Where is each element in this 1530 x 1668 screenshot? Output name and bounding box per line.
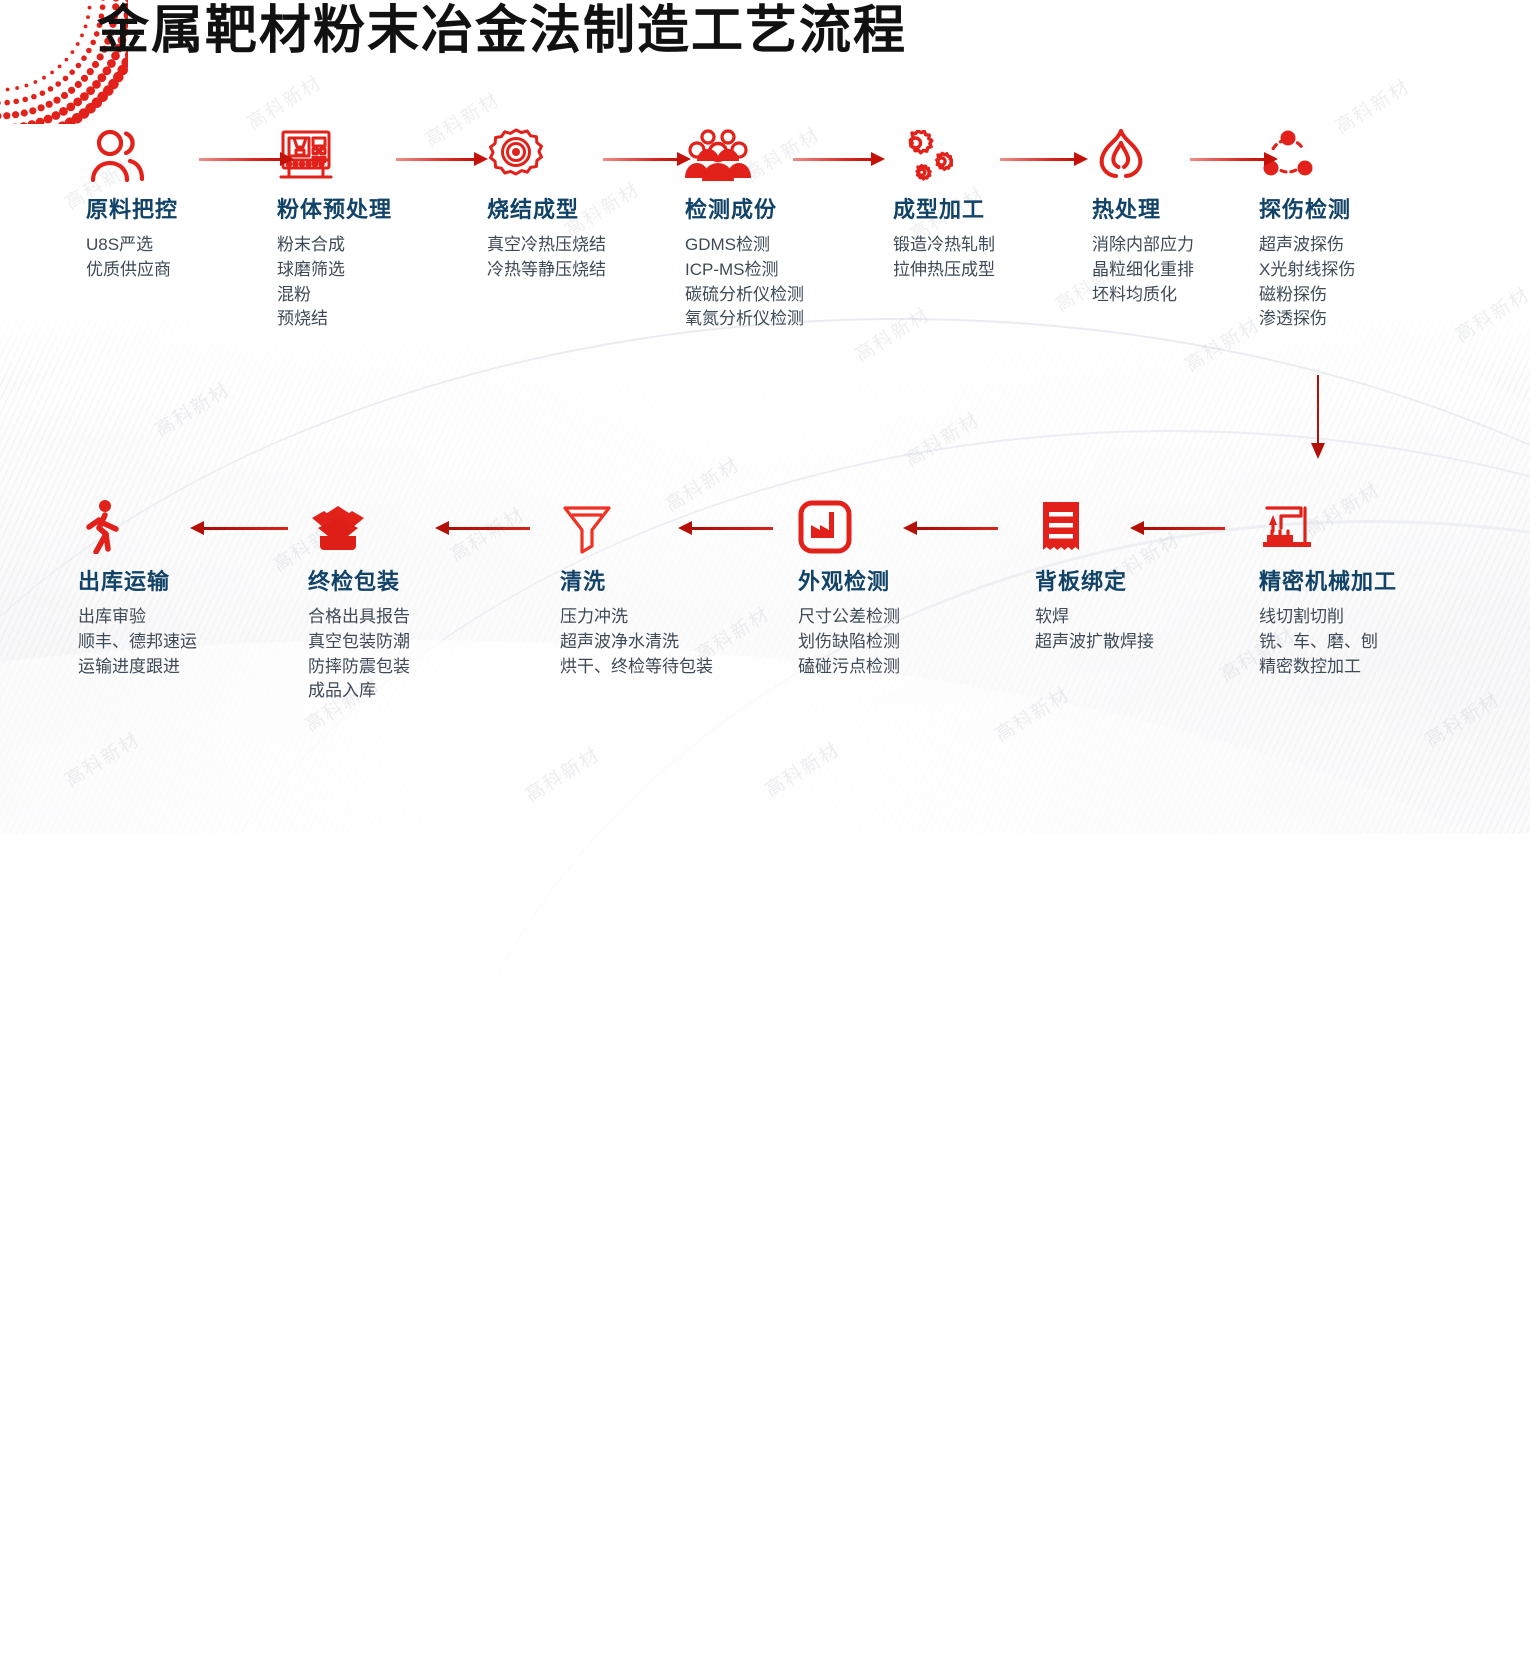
step-title: 终检包装: [308, 564, 518, 596]
step-detail-item: 超声波扩散焊接: [1035, 630, 1245, 655]
step-title: 背板绑定: [1035, 564, 1245, 596]
arrow-shaft: [203, 527, 288, 530]
step-detail-item: 超声波净水清洗: [560, 630, 770, 655]
arrow-head: [678, 521, 692, 535]
step-title: 探伤检测: [1259, 192, 1469, 224]
arrow-shaft: [448, 527, 530, 530]
step-detail-item: U8S严选: [86, 233, 296, 258]
step-detail-item: 混粉: [277, 283, 487, 308]
arrow-left-5: [1130, 521, 1225, 535]
step-detail-item: 合格出具报告: [308, 605, 518, 630]
step-title: 精密机械加工: [1259, 564, 1469, 596]
step-detail-item: 磕碰污点检测: [798, 655, 1008, 680]
step-detail-item: 精密数控加工: [1259, 655, 1469, 680]
step-detail-list: 线切割切削铣、车、磨、刨精密数控加工: [1259, 605, 1469, 679]
process-step-top-7: 探伤检测超声波探伤X光射线探伤磁粉探伤渗透探伤: [1259, 126, 1469, 332]
step-detail-item: 拉伸热压成型: [893, 258, 1103, 283]
arrow-shaft: [1143, 527, 1225, 530]
step-title: 成型加工: [893, 192, 1103, 224]
process-step-bottom-6: 精密机械加工线切割切削铣、车、磨、刨精密数控加工: [1259, 498, 1469, 679]
step-detail-item: 出库审验: [78, 605, 288, 630]
step-detail-item: 球磨筛选: [277, 258, 487, 283]
arrow-head: [871, 152, 885, 166]
arrow-shaft: [916, 527, 998, 530]
step-detail-item: 真空包装防潮: [308, 630, 518, 655]
step-detail-item: 顺丰、德邦速运: [78, 630, 288, 655]
step-detail-item: 氧氮分析仪检测: [685, 307, 895, 332]
step-detail-list: U8S严选优质供应商: [86, 233, 296, 283]
arrow-right-5: [1000, 152, 1088, 166]
step-title: 检测成份: [685, 192, 895, 224]
step-title: 粉体预处理: [277, 192, 487, 224]
step-detail-item: 超声波探伤: [1259, 233, 1469, 258]
step-detail-item: 渗透探伤: [1259, 307, 1469, 332]
step-detail-item: 铣、车、磨、刨: [1259, 630, 1469, 655]
arrow-shaft: [1317, 375, 1319, 445]
precision-machine-icon: [1259, 498, 1469, 554]
arrow-left-3: [678, 521, 773, 535]
three-nodes-icon: [1259, 126, 1469, 182]
arrow-right-1: [199, 152, 294, 166]
arrow-head: [1264, 152, 1278, 166]
arrow-head: [1130, 521, 1144, 535]
step-title: 原料把控: [86, 192, 296, 224]
step-title: 外观检测: [798, 564, 1008, 596]
step-detail-item: GDMS检测: [685, 233, 895, 258]
step-detail-item: X光射线探伤: [1259, 258, 1469, 283]
step-title: 出库运输: [78, 564, 288, 596]
arrow-shaft: [199, 158, 281, 161]
arrow-shaft: [396, 158, 475, 161]
arrow-head: [903, 521, 917, 535]
step-detail-list: 锻造冷热轧制拉伸热压成型: [893, 233, 1103, 283]
step-detail-item: 压力冲洗: [560, 605, 770, 630]
step-detail-list: 软焊超声波扩散焊接: [1035, 605, 1245, 655]
arrow-right-3: [603, 152, 691, 166]
arrow-head: [677, 152, 691, 166]
step-detail-item: 成品入库: [308, 679, 518, 704]
arrow-head: [190, 521, 204, 535]
step-detail-item: 运输进度跟进: [78, 655, 288, 680]
arrow-right-6: [1190, 152, 1278, 166]
step-detail-item: 预烧结: [277, 307, 487, 332]
process-step-top-1: 原料把控U8S严选优质供应商: [86, 126, 296, 283]
step-detail-item: 防摔防震包装: [308, 655, 518, 680]
step-detail-list: GDMS检测ICP-MS检测碳硫分析仪检测氧氮分析仪检测: [685, 233, 895, 332]
arrow-head: [435, 521, 449, 535]
arrow-left-2: [435, 521, 530, 535]
step-detail-item: 优质供应商: [86, 258, 296, 283]
step-detail-item: 真空冷热压烧结: [487, 233, 697, 258]
arrow-shaft: [1190, 158, 1265, 161]
arrow-left-4: [903, 521, 998, 535]
step-title: 烧结成型: [487, 192, 697, 224]
step-detail-list: 真空冷热压烧结冷热等静压烧结: [487, 233, 697, 283]
arrow-down-connector: [1311, 375, 1325, 459]
step-detail-item: 碳硫分析仪检测: [685, 283, 895, 308]
arrow-right-4: [793, 152, 885, 166]
step-detail-list: 出库审验顺丰、德邦速运运输进度跟进: [78, 605, 288, 679]
step-detail-item: 锻造冷热轧制: [893, 233, 1103, 258]
step-detail-item: 划伤缺陷检测: [798, 630, 1008, 655]
arrow-shaft: [793, 158, 872, 161]
step-detail-item: 冷热等静压烧结: [487, 258, 697, 283]
arrow-head: [280, 152, 294, 166]
step-detail-list: 合格出具报告真空包装防潮防摔防震包装成品入库: [308, 605, 518, 704]
background-wave-5: [0, 640, 1530, 1540]
process-step-top-3: 烧结成型真空冷热压烧结冷热等静压烧结: [487, 126, 697, 283]
arrow-shaft: [1000, 158, 1075, 161]
step-detail-item: 烘干、终检等待包装: [560, 655, 732, 680]
process-step-top-5: 成型加工锻造冷热轧制拉伸热压成型: [893, 126, 1103, 283]
step-detail-item: 粉末合成: [277, 233, 487, 258]
page-title: 金属靶材粉末冶金法制造工艺流程: [97, 4, 907, 59]
step-detail-item: 尺寸公差检测: [798, 605, 1008, 630]
arrow-head: [1074, 152, 1088, 166]
arrow-shaft: [691, 527, 773, 530]
step-detail-list: 粉末合成球磨筛选混粉预烧结: [277, 233, 487, 332]
step-detail-item: ICP-MS检测: [685, 258, 895, 283]
step-detail-item: 软焊: [1035, 605, 1245, 630]
arrow-head: [1311, 443, 1325, 459]
step-detail-item: 线切割切削: [1259, 605, 1469, 630]
arrow-shaft: [603, 158, 678, 161]
arrow-head: [474, 152, 488, 166]
arrow-left-1: [190, 521, 288, 535]
arrow-right-2: [396, 152, 488, 166]
step-detail-list: 尺寸公差检测划伤缺陷检测磕碰污点检测: [798, 605, 1008, 679]
step-title: 清洗: [560, 564, 770, 596]
step-detail-list: 超声波探伤X光射线探伤磁粉探伤渗透探伤: [1259, 233, 1469, 332]
step-detail-list: 压力冲洗超声波净水清洗烘干、终检等待包装: [560, 605, 770, 679]
step-detail-item: 磁粉探伤: [1259, 283, 1469, 308]
